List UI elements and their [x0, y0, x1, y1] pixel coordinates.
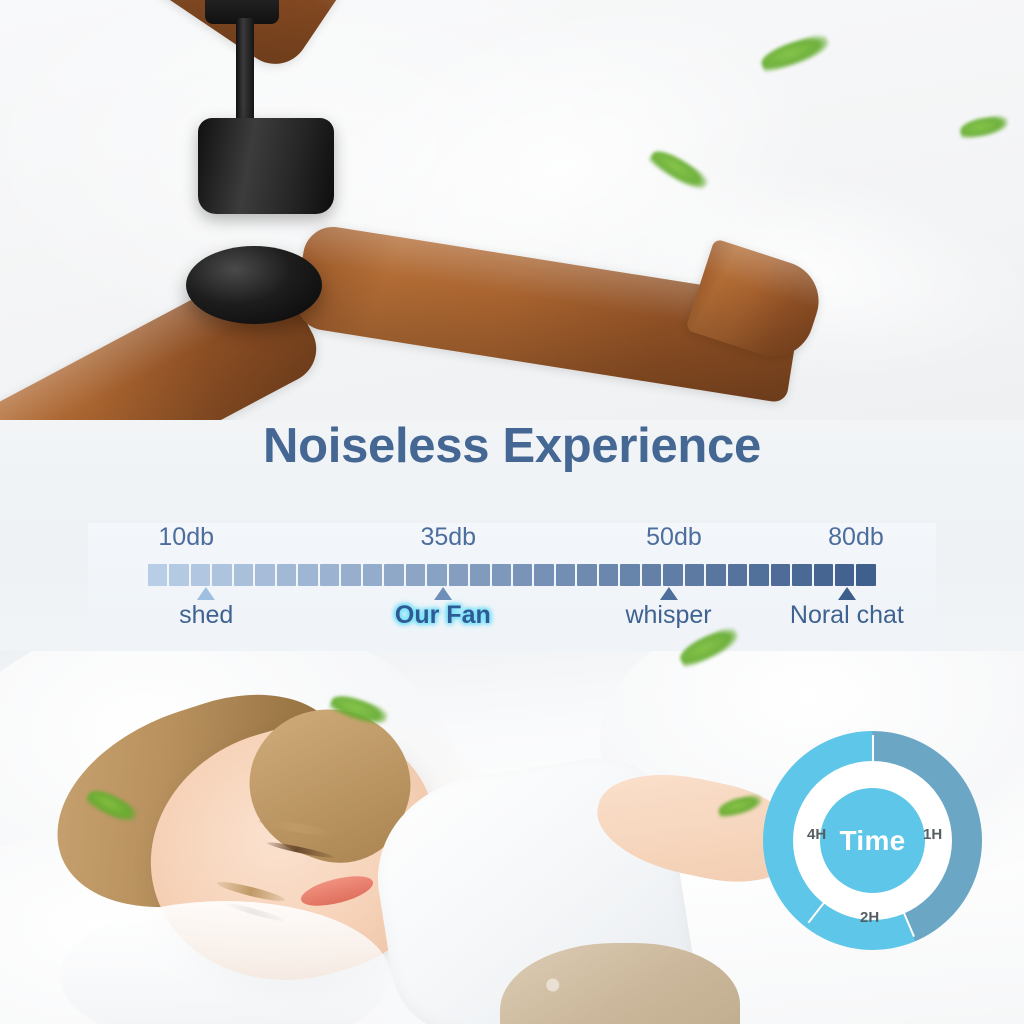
decibel-segment	[191, 564, 210, 586]
timer-label-1h: 1H	[923, 826, 942, 843]
decibel-axis-label: 10db	[158, 523, 214, 552]
motor-housing	[198, 118, 334, 214]
timer-dial[interactable]: Time 1H 4H 2H	[763, 731, 982, 950]
decibel-segment	[599, 564, 618, 586]
decibel-segment	[406, 564, 425, 586]
decibel-marker-label: Our Fan	[395, 601, 491, 630]
decibel-segment	[234, 564, 253, 586]
decibel-marker: Noral chat	[790, 587, 904, 630]
timer-center: Time	[820, 788, 925, 893]
ceiling-fan-photo	[0, 0, 1024, 420]
decibel-segment	[427, 564, 446, 586]
decibel-segment	[577, 564, 596, 586]
marker-triangle-icon	[660, 587, 678, 600]
decibel-marker-label: whisper	[625, 601, 711, 630]
decibel-segment	[663, 564, 682, 586]
decibel-axis-label: 80db	[828, 523, 884, 552]
decibel-marker-label: Noral chat	[790, 601, 904, 630]
decibel-marker-label: shed	[179, 601, 233, 630]
decibel-bar	[148, 564, 876, 586]
decibel-segment	[320, 564, 339, 586]
marker-triangle-icon	[838, 587, 856, 600]
decibel-segment	[470, 564, 489, 586]
decibel-segment	[449, 564, 468, 586]
decibel-segment	[384, 564, 403, 586]
timer-label-4h: 4H	[807, 826, 826, 843]
marker-triangle-icon	[434, 587, 452, 600]
decibel-segment	[556, 564, 575, 586]
decibel-segment	[255, 564, 274, 586]
decibel-segment	[792, 564, 811, 586]
decibel-segment	[492, 564, 511, 586]
decibel-segment	[277, 564, 296, 586]
page-title: Noiseless Experience	[0, 418, 1024, 474]
promo-page: Noiseless Experience 10db35db50db80db sh…	[0, 0, 1024, 1024]
timer-center-label: Time	[839, 825, 905, 857]
decibel-segment	[749, 564, 768, 586]
decibel-segment	[771, 564, 790, 586]
decibel-segment	[534, 564, 553, 586]
fan-blade-upper-left	[0, 0, 356, 77]
decibel-segment	[642, 564, 661, 586]
decibel-axis-label: 50db	[646, 523, 702, 552]
decibel-axis-labels: 10db35db50db80db	[88, 523, 936, 557]
decibel-segment	[169, 564, 188, 586]
decibel-segment	[363, 564, 382, 586]
decibel-marker: shed	[179, 587, 233, 630]
decibel-marker: whisper	[625, 587, 711, 630]
decibel-segment	[298, 564, 317, 586]
decibel-segment	[620, 564, 639, 586]
decibel-segment	[148, 564, 167, 586]
decibel-scale: 10db35db50db80db shedOur FanwhisperNoral…	[88, 523, 936, 651]
decibel-segment	[685, 564, 704, 586]
decibel-segment	[513, 564, 532, 586]
downrod	[236, 18, 254, 122]
decibel-segment	[835, 564, 854, 586]
timer-label-2h: 2H	[860, 909, 879, 926]
decibel-segment	[728, 564, 747, 586]
decibel-axis-label: 35db	[420, 523, 476, 552]
decibel-marker: Our Fan	[395, 587, 491, 630]
decibel-segment	[341, 564, 360, 586]
decibel-segment	[212, 564, 231, 586]
motor-cap	[186, 246, 322, 324]
marker-triangle-icon	[197, 587, 215, 600]
decibel-segment	[814, 564, 833, 586]
decibel-markers: shedOur FanwhisperNoral chat	[88, 587, 936, 651]
decibel-segment	[706, 564, 725, 586]
decibel-segment	[856, 564, 875, 586]
